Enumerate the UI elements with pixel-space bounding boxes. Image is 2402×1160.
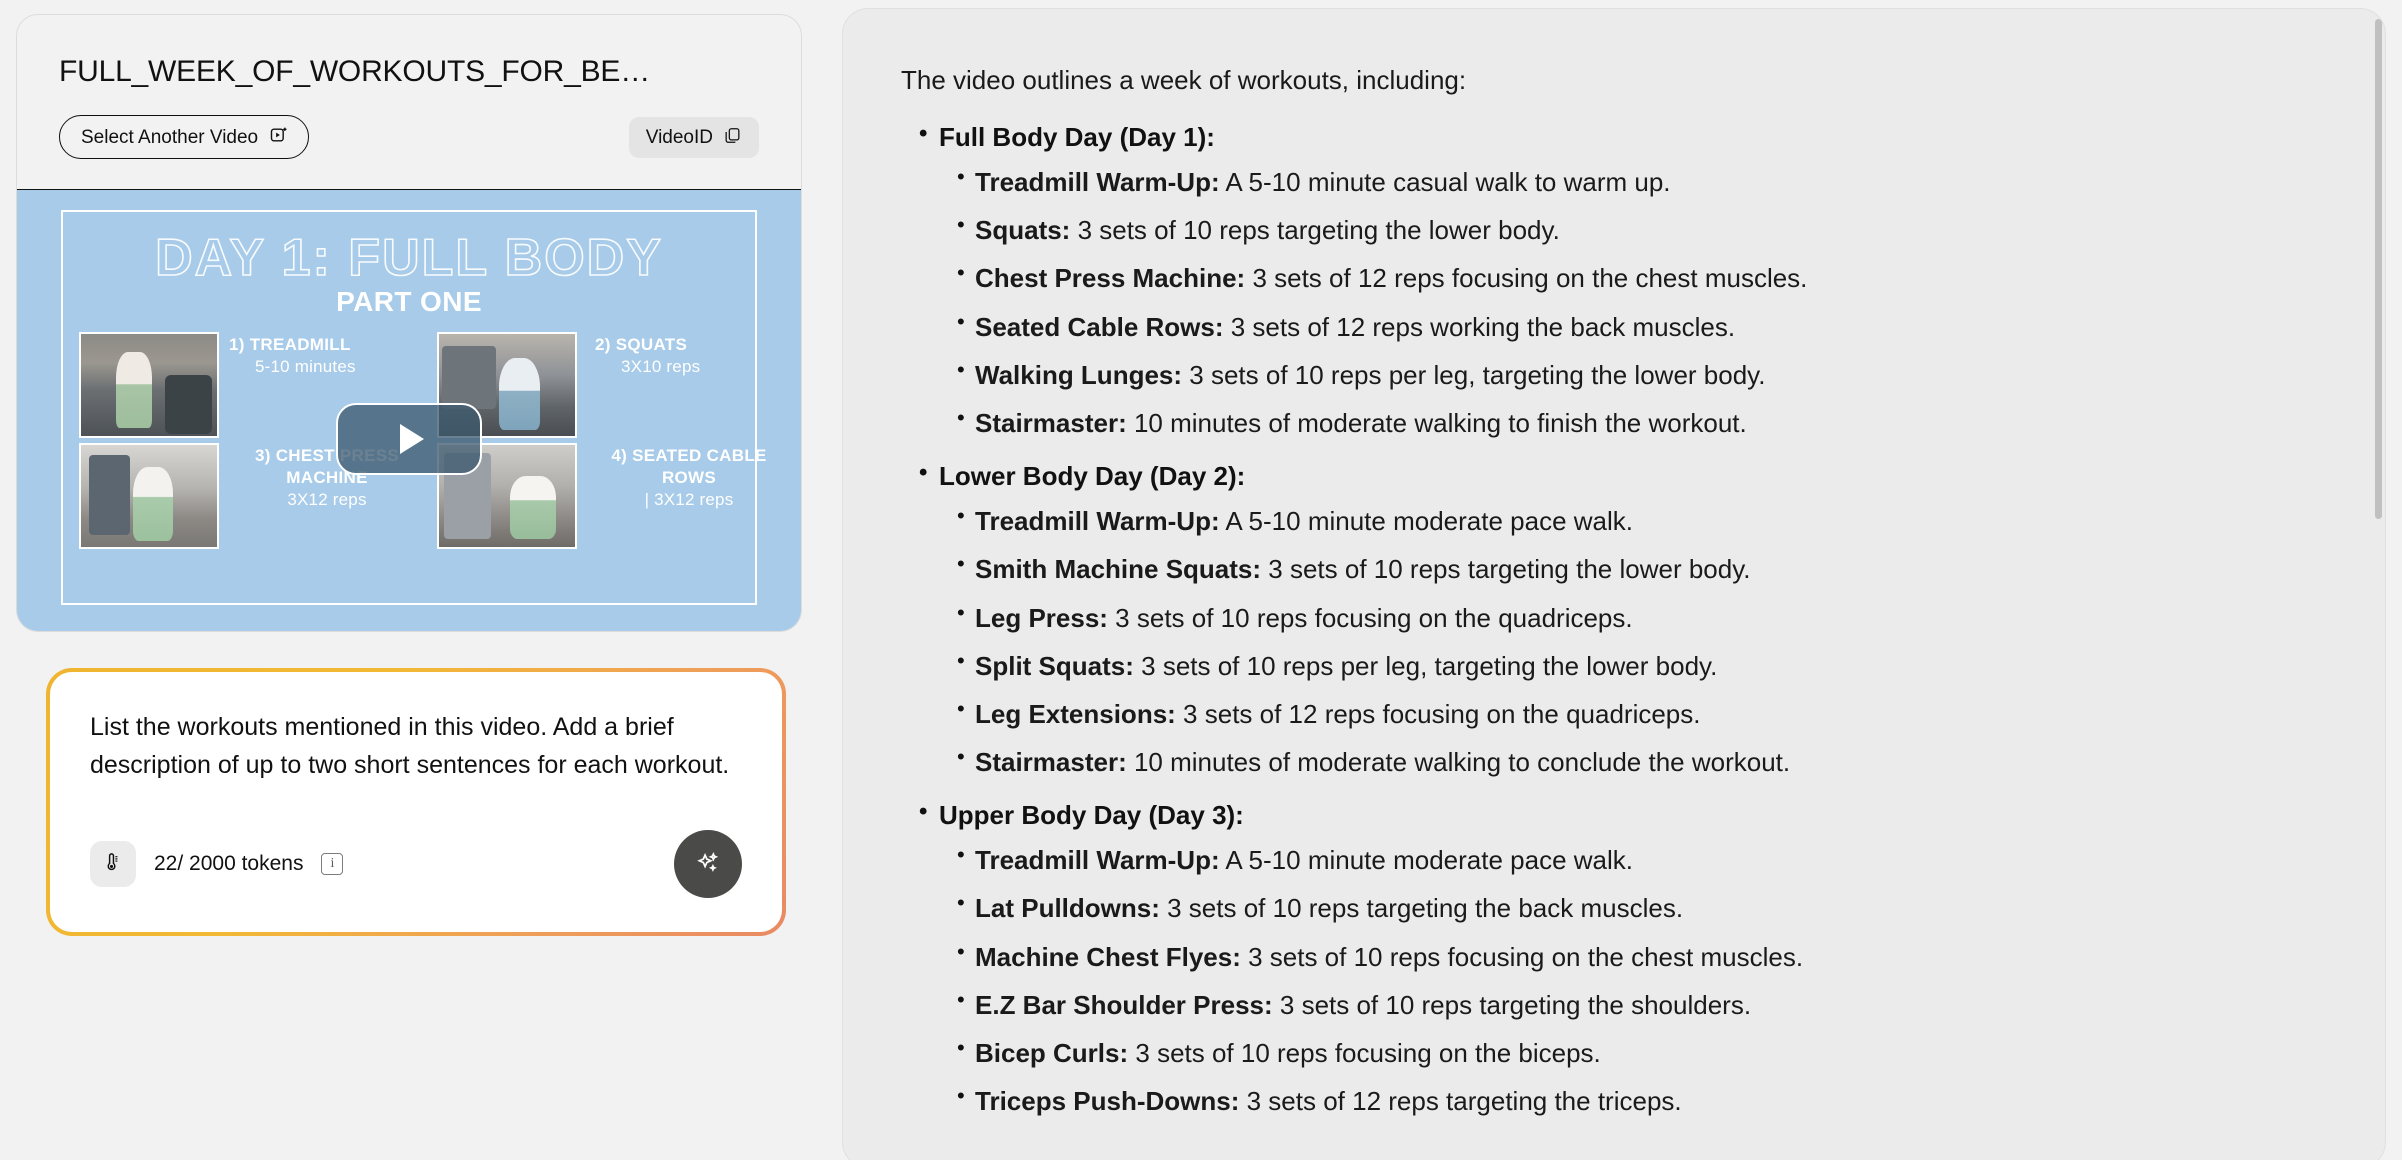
token-count: 22/ 2000 tokens — [154, 852, 303, 876]
select-another-video-label: Select Another Video — [81, 128, 258, 147]
thumbnail-label-1: 1) TREADMILL 5-10 minutes — [229, 334, 429, 378]
day-exercise-list: Treadmill Warm-Up: A 5-10 minute casual … — [901, 167, 2325, 439]
day-group: Upper Body Day (Day 3): Treadmill Warm-U… — [901, 800, 2325, 1117]
exercise-desc: 3 sets of 10 reps targeting the back mus… — [1160, 893, 1683, 923]
thumbnail-item-num: 2) — [595, 335, 611, 354]
thumbnail-tile-treadmill — [79, 332, 219, 438]
exercise-name: Leg Extensions: — [975, 699, 1176, 729]
list-item: Triceps Push-Downs: 3 sets of 12 reps ta… — [901, 1086, 2325, 1117]
list-item: Treadmill Warm-Up: A 5-10 minute moderat… — [901, 506, 2325, 537]
exercise-name: Leg Press: — [975, 603, 1108, 633]
thumbnail-part-label: PART ONE — [17, 286, 801, 318]
info-icon[interactable]: i — [321, 853, 343, 875]
exercise-name: Walking Lunges: — [975, 360, 1182, 390]
exercise-name: Chest Press Machine: — [975, 263, 1245, 293]
generate-button[interactable] — [674, 830, 742, 898]
scrollbar-track[interactable] — [2375, 19, 2382, 1159]
temperature-button[interactable] — [90, 841, 136, 887]
token-group: 22/ 2000 tokens i — [90, 841, 343, 887]
video-header-actions: Select Another Video VideoID — [59, 115, 759, 159]
exercise-name: Bicep Curls: — [975, 1038, 1128, 1068]
exercise-name: Squats: — [975, 215, 1070, 245]
result-panel: The video outlines a week of workouts, i… — [842, 8, 2386, 1160]
play-button[interactable] — [336, 403, 482, 475]
exercise-desc: 10 minutes of moderate walking to conclu… — [1127, 747, 1790, 777]
list-item: Leg Extensions: 3 sets of 12 reps focusi… — [901, 699, 2325, 730]
exercise-desc: 3 sets of 10 reps per leg, targeting the… — [1182, 360, 1765, 390]
list-item: Squats: 3 sets of 10 reps targeting the … — [901, 215, 2325, 246]
list-item: Machine Chest Flyes: 3 sets of 10 reps f… — [901, 942, 2325, 973]
prompt-card-wrapper: List the workouts mentioned in this vide… — [16, 632, 820, 936]
exercise-name: Triceps Push-Downs: — [975, 1086, 1239, 1116]
thermometer-icon — [102, 851, 124, 878]
exercise-desc: 3 sets of 12 reps focusing on the quadri… — [1176, 699, 1701, 729]
thumbnail-label-4: 4) SEATED CABLE ROWS | 3X12 reps — [589, 445, 789, 510]
exercise-name: Stairmaster: — [975, 408, 1127, 438]
exercise-name: Seated Cable Rows: — [975, 312, 1224, 342]
day-exercise-list: Treadmill Warm-Up: A 5-10 minute moderat… — [901, 506, 2325, 778]
list-item: Treadmill Warm-Up: A 5-10 minute moderat… — [901, 845, 2325, 876]
list-item: Chest Press Machine: 3 sets of 12 reps f… — [901, 263, 2325, 294]
day-group: Full Body Day (Day 1): Treadmill Warm-Up… — [901, 122, 2325, 439]
list-item: Bicep Curls: 3 sets of 10 reps focusing … — [901, 1038, 2325, 1069]
thumbnail-item-detail: | 3X12 reps — [589, 489, 789, 511]
day-heading: Full Body Day (Day 1): — [901, 122, 2325, 153]
exercise-desc: 3 sets of 10 reps targeting the shoulder… — [1273, 990, 1751, 1020]
exercise-name: Treadmill Warm-Up: — [975, 506, 1220, 536]
prompt-card[interactable]: List the workouts mentioned in this vide… — [46, 668, 786, 936]
list-item: Leg Press: 3 sets of 10 reps focusing on… — [901, 603, 2325, 634]
play-icon — [400, 424, 424, 454]
day-group: Lower Body Day (Day 2): Treadmill Warm-U… — [901, 461, 2325, 778]
app-root: FULL_WEEK_OF_WORKOUTS_FOR_BE… Select Ano… — [0, 0, 2402, 1160]
gym-photo-icon — [81, 334, 217, 436]
thumbnail-item-num: 3) — [255, 446, 271, 465]
thumbnail-day-title: DAY 1: FULL BODY — [17, 228, 801, 288]
exercise-desc: 3 sets of 10 reps targeting the lower bo… — [1070, 215, 1559, 245]
right-column: The video outlines a week of workouts, i… — [820, 0, 2402, 1160]
thumbnail-item-detail: 5-10 minutes — [255, 356, 429, 378]
thumbnail-item-name: SQUATS — [616, 335, 687, 354]
list-item: Treadmill Warm-Up: A 5-10 minute casual … — [901, 167, 2325, 198]
exercise-name: Stairmaster: — [975, 747, 1127, 777]
result-intro: The video outlines a week of workouts, i… — [901, 65, 2325, 96]
thumbnail-tile-chest-press — [79, 443, 219, 549]
exercise-name: Smith Machine Squats: — [975, 554, 1261, 584]
video-card: FULL_WEEK_OF_WORKOUTS_FOR_BE… Select Ano… — [16, 14, 802, 632]
page-title: FULL_WEEK_OF_WORKOUTS_FOR_BE… — [59, 55, 759, 89]
video-card-header: FULL_WEEK_OF_WORKOUTS_FOR_BE… Select Ano… — [17, 15, 801, 190]
video-plus-icon — [269, 125, 289, 149]
list-item: Walking Lunges: 3 sets of 10 reps per le… — [901, 360, 2325, 391]
thumbnail-item-name: TREADMILL — [250, 335, 351, 354]
exercise-desc: A 5-10 minute moderate pace walk. — [1220, 506, 1633, 536]
list-item: Smith Machine Squats: 3 sets of 10 reps … — [901, 554, 2325, 585]
video-id-label: VideoID — [646, 128, 713, 147]
prompt-input[interactable]: List the workouts mentioned in this vide… — [90, 708, 730, 784]
list-item: Stairmaster: 10 minutes of moderate walk… — [901, 747, 2325, 778]
video-id-badge[interactable]: VideoID — [629, 117, 759, 158]
thumbnail-label-2: 2) SQUATS 3X10 reps — [595, 334, 795, 378]
thumbnail-item-num: 4) — [611, 446, 627, 465]
exercise-name: Treadmill Warm-Up: — [975, 845, 1220, 875]
exercise-desc: 3 sets of 10 reps focusing on the chest … — [1241, 942, 1803, 972]
exercise-desc: 3 sets of 12 reps targeting the triceps. — [1239, 1086, 1681, 1116]
thumbnail-item-num: 1) — [229, 335, 245, 354]
exercise-desc: A 5-10 minute casual walk to warm up. — [1220, 167, 1671, 197]
scrollbar-thumb[interactable] — [2375, 19, 2382, 519]
exercise-desc: 3 sets of 12 reps focusing on the chest … — [1245, 263, 1807, 293]
gym-photo-icon — [81, 445, 217, 547]
thumbnail-item-name: SEATED CABLE ROWS — [632, 446, 767, 487]
exercise-desc: 10 minutes of moderate walking to finish… — [1127, 408, 1747, 438]
thumbnail-item-detail: 3X12 reps — [229, 489, 425, 511]
thumbnail-item-detail: 3X10 reps — [621, 356, 795, 378]
exercise-name: Treadmill Warm-Up: — [975, 167, 1220, 197]
day-heading: Upper Body Day (Day 3): — [901, 800, 2325, 831]
workout-week-list: Full Body Day (Day 1): Treadmill Warm-Up… — [901, 122, 2325, 1117]
exercise-name: Lat Pulldowns: — [975, 893, 1160, 923]
copy-icon[interactable] — [723, 126, 742, 149]
exercise-desc: 3 sets of 12 reps working the back muscl… — [1224, 312, 1736, 342]
list-item: Lat Pulldowns: 3 sets of 10 reps targeti… — [901, 893, 2325, 924]
sparkles-icon — [694, 849, 722, 880]
exercise-name: Machine Chest Flyes: — [975, 942, 1241, 972]
exercise-desc: 3 sets of 10 reps targeting the lower bo… — [1261, 554, 1750, 584]
exercise-name: Split Squats: — [975, 651, 1134, 681]
list-item: Split Squats: 3 sets of 10 reps per leg,… — [901, 651, 2325, 682]
day-heading: Lower Body Day (Day 2): — [901, 461, 2325, 492]
prompt-card-footer: 22/ 2000 tokens i — [90, 830, 742, 898]
day-exercise-list: Treadmill Warm-Up: A 5-10 minute moderat… — [901, 845, 2325, 1117]
exercise-desc: 3 sets of 10 reps focusing on the biceps… — [1128, 1038, 1601, 1068]
list-item: Stairmaster: 10 minutes of moderate walk… — [901, 408, 2325, 439]
exercise-desc: A 5-10 minute moderate pace walk. — [1220, 845, 1633, 875]
video-thumbnail[interactable]: DAY 1: FULL BODY PART ONE 1) TREADMILL — [17, 190, 801, 631]
exercise-name: E.Z Bar Shoulder Press: — [975, 990, 1273, 1020]
list-item: E.Z Bar Shoulder Press: 3 sets of 10 rep… — [901, 990, 2325, 1021]
exercise-desc: 3 sets of 10 reps focusing on the quadri… — [1108, 603, 1633, 633]
list-item: Seated Cable Rows: 3 sets of 12 reps wor… — [901, 312, 2325, 343]
select-another-video-button[interactable]: Select Another Video — [59, 115, 309, 159]
left-column: FULL_WEEK_OF_WORKOUTS_FOR_BE… Select Ano… — [0, 0, 820, 1160]
exercise-desc: 3 sets of 10 reps per leg, targeting the… — [1134, 651, 1717, 681]
